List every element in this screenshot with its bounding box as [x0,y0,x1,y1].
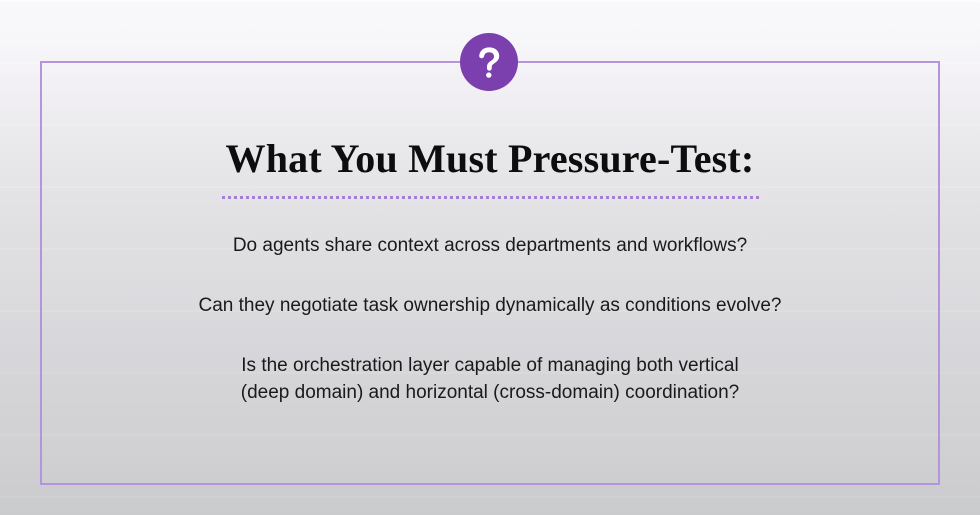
pressure-test-question-3-line-2: (deep domain) and horizontal (cross-doma… [180,379,800,406]
pressure-test-question-2: Can they negotiate task ownership dynami… [199,292,782,319]
question-mark-icon [474,45,504,79]
pressure-test-question-1: Do agents share context across departmen… [233,232,747,259]
slide-content: What You Must Pressure-Test: Do agents s… [40,61,940,485]
page-title: What You Must Pressure-Test: [226,138,755,180]
question-mark-badge [460,33,518,91]
pressure-test-question-3: Is the orchestration layer capable of ma… [180,352,800,406]
slide-canvas: What You Must Pressure-Test: Do agents s… [0,0,980,515]
pressure-test-question-3-line-1: Is the orchestration layer capable of ma… [180,352,800,379]
title-dotted-divider [222,196,759,202]
